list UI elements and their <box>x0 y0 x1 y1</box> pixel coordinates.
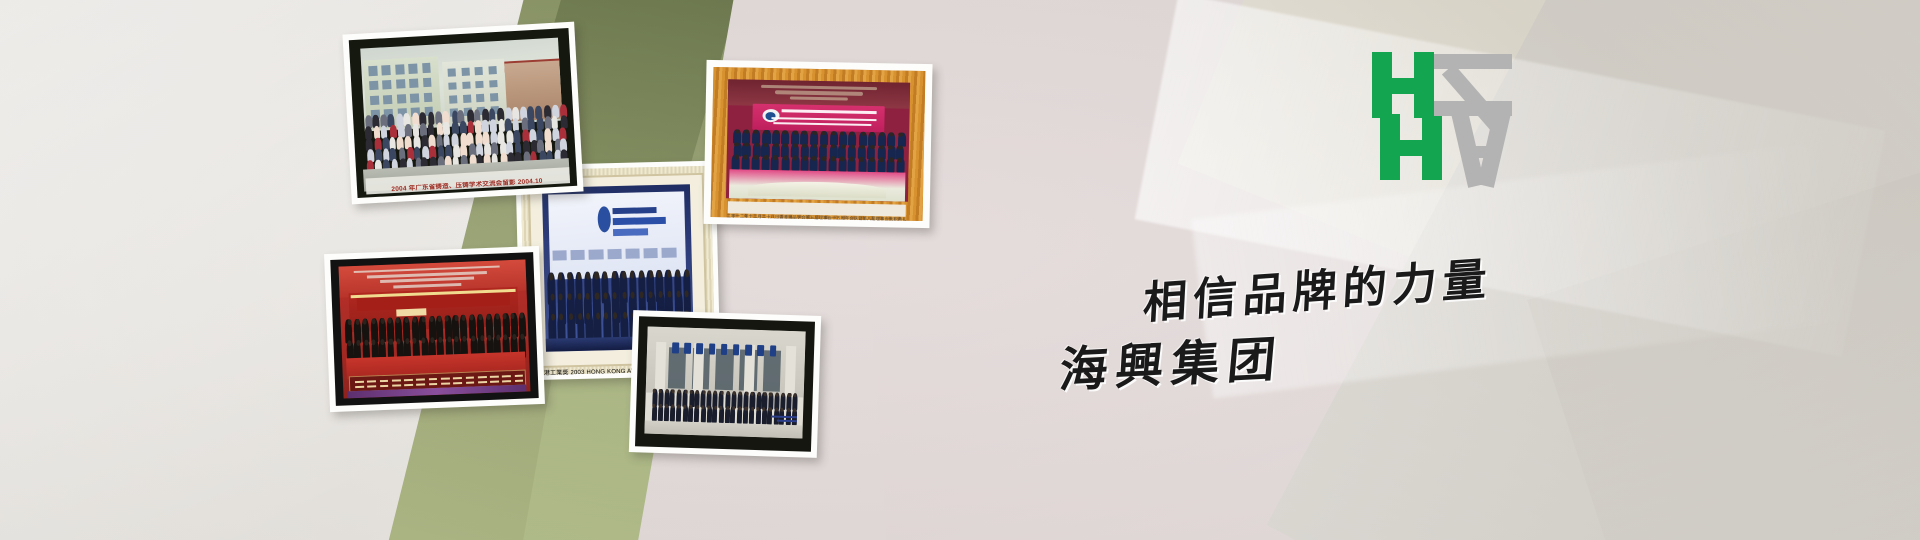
person-head <box>792 156 797 160</box>
person-head <box>831 131 836 135</box>
person-head <box>480 335 484 341</box>
person-head <box>657 270 661 277</box>
person-head <box>667 270 671 277</box>
person-head <box>684 390 687 394</box>
building-window <box>463 95 471 103</box>
building-facade <box>645 327 805 398</box>
attendee-name <box>355 381 364 383</box>
person-head <box>734 155 739 159</box>
building-window <box>369 81 378 91</box>
award-category-label <box>644 248 659 258</box>
person-head <box>622 292 626 299</box>
person-head <box>595 292 599 299</box>
person-head <box>787 408 790 412</box>
building-window <box>489 80 497 88</box>
attendee-name <box>502 375 511 377</box>
person-head <box>667 291 671 298</box>
person-head <box>743 155 748 159</box>
attendee-name <box>380 385 389 387</box>
person-head <box>745 407 748 411</box>
entrance-column <box>655 342 666 394</box>
photo-image-association <box>726 79 911 201</box>
person-head <box>757 392 760 396</box>
person-head <box>870 157 875 161</box>
person-head <box>356 340 360 346</box>
building-window <box>383 95 392 105</box>
background-layer <box>0 0 1920 540</box>
attendee-name <box>490 381 499 383</box>
person-head <box>520 333 524 339</box>
person-head <box>769 407 772 411</box>
attendee-name <box>441 377 450 379</box>
person-head <box>363 318 367 324</box>
person-head <box>764 155 769 159</box>
sign-character <box>696 343 703 354</box>
person-head <box>478 314 482 320</box>
person-head <box>793 143 798 147</box>
banquet-attendees <box>730 129 906 175</box>
ceiling-light <box>790 97 848 101</box>
person-head <box>684 290 688 297</box>
stage-banner <box>753 103 885 132</box>
attendee-name <box>379 380 388 382</box>
person-head <box>822 156 827 160</box>
person-head <box>803 156 808 160</box>
person-head <box>783 143 788 147</box>
building-window <box>422 63 431 73</box>
person-head <box>714 406 717 410</box>
person-head <box>405 317 409 323</box>
person-head <box>754 155 759 159</box>
person-head <box>802 143 807 147</box>
person-head <box>822 131 827 135</box>
photo-inner <box>330 252 538 406</box>
ceiling-light <box>775 91 863 96</box>
person-head <box>734 142 739 146</box>
attendee-name <box>441 383 450 385</box>
person-head <box>364 339 368 345</box>
banner-text-line-1 <box>782 110 877 114</box>
person-head <box>577 293 581 300</box>
attendee-name <box>416 378 425 380</box>
building-window <box>370 95 379 105</box>
sign-character <box>757 345 764 356</box>
person-head <box>744 142 749 146</box>
person-head <box>622 271 626 278</box>
calligraphy-slogan: 相信品牌的力量 海興集团 <box>1060 255 1540 445</box>
person-head <box>726 406 729 410</box>
person-head <box>371 318 375 324</box>
person-head <box>802 130 807 134</box>
attendee-name <box>429 383 438 385</box>
person-head <box>395 317 399 323</box>
person-head <box>783 156 788 160</box>
person-head <box>496 334 500 340</box>
person-head <box>860 144 865 148</box>
building-window <box>476 94 484 102</box>
person-head <box>447 336 451 342</box>
building-window <box>461 68 469 76</box>
building-window <box>395 65 404 75</box>
brand-banner: 香港工業獎 2003 HONG KONG AWARDS FOR INDUSTRY… <box>0 0 1920 540</box>
person-head <box>380 339 384 345</box>
person-head <box>812 143 817 147</box>
person-head <box>831 157 836 161</box>
building-window <box>423 92 432 102</box>
building-window <box>462 81 470 89</box>
award-category-label <box>662 247 677 257</box>
person-head <box>783 130 788 134</box>
person-head <box>603 272 607 279</box>
photo-inner <box>635 316 815 451</box>
attendee-name <box>367 380 376 382</box>
building-window <box>423 78 432 88</box>
person-head <box>486 314 490 320</box>
photo-image-entrance <box>644 327 806 439</box>
person-head <box>840 157 845 161</box>
person-head <box>549 273 553 280</box>
building-window <box>488 66 496 74</box>
person-head <box>812 131 817 135</box>
logo-letter-a-grey <box>1438 108 1524 184</box>
person-head <box>665 404 668 408</box>
person-head <box>380 318 384 324</box>
sign-character <box>721 344 728 355</box>
person-head <box>898 145 903 149</box>
person-head <box>822 144 827 148</box>
sign-character <box>672 343 679 354</box>
slogan-line-2: 海興集团 <box>1057 319 1287 401</box>
photo-card-building-entrance[interactable] <box>629 310 821 458</box>
person-head <box>387 318 391 324</box>
person-head <box>355 319 359 325</box>
person-head <box>421 316 425 322</box>
attendee-name <box>392 379 401 381</box>
attendee-name <box>453 377 462 379</box>
attendee-name <box>515 374 524 376</box>
person-head <box>744 129 749 133</box>
attendee-name <box>404 379 413 381</box>
person-head <box>495 313 499 319</box>
banner-text-line-3 <box>774 122 871 126</box>
attendee-name <box>478 376 487 378</box>
date-stamp-line <box>771 415 797 418</box>
person-head <box>604 313 608 320</box>
attendee-name <box>355 386 364 388</box>
person-head <box>888 145 893 149</box>
building-window <box>476 81 484 89</box>
award-category-label <box>571 250 586 260</box>
awards-title-line-1 <box>612 207 657 215</box>
person-head <box>775 408 778 412</box>
building-window <box>381 65 390 75</box>
logo-letter-h-green-bottom <box>1380 114 1442 180</box>
person-head <box>612 271 616 278</box>
slogan-line-1: 相信品牌的力量 <box>1142 243 1495 332</box>
building-window <box>449 95 457 103</box>
ceiling-beam <box>394 283 461 288</box>
building-window <box>409 79 418 89</box>
person-head <box>774 130 779 134</box>
person-head <box>898 132 903 136</box>
sign-character <box>684 343 691 354</box>
person-head <box>788 393 791 397</box>
attendee-name <box>429 378 438 380</box>
attendee-name <box>404 384 413 386</box>
person-head <box>659 404 662 408</box>
person-head <box>405 338 409 344</box>
sign-character <box>733 345 740 356</box>
person-head <box>347 340 351 346</box>
person-head <box>594 272 598 279</box>
person-head <box>558 293 562 300</box>
attendee-name <box>490 375 499 377</box>
building-window <box>448 69 456 77</box>
sign-character <box>745 345 752 356</box>
award-category-label <box>607 249 622 259</box>
attendee-name <box>515 380 524 382</box>
building-window <box>410 93 419 103</box>
sign-character <box>709 344 716 355</box>
attendee-name <box>392 385 401 387</box>
photo-card-2004-guangdong[interactable]: 2004 年广东省铸造、压铸学术交流会留影 2004.10 <box>342 22 583 205</box>
photo-inner <box>349 28 577 198</box>
photo-card-hk-association-gold[interactable]: 二零一二年十二月二十八日香港潮品学会第五届理事会十五周年会庆暨第八届理事会就职典… <box>703 60 932 228</box>
person-head <box>859 157 864 161</box>
photo-card-2014-red-backdrop[interactable] <box>324 246 545 412</box>
person-head <box>577 272 581 279</box>
banner-text-line-2 <box>771 117 876 121</box>
person-head <box>841 144 846 148</box>
person-head <box>774 143 779 147</box>
sign-character <box>769 346 776 357</box>
person-head <box>396 338 400 344</box>
awards-title-line-2 <box>612 216 666 225</box>
person-head <box>880 145 885 149</box>
person-head <box>745 392 748 396</box>
person-head <box>763 143 768 147</box>
logo-letter-h-green-top <box>1372 52 1434 118</box>
building-window <box>490 93 498 101</box>
attendee-name <box>417 384 426 386</box>
building-window <box>396 94 405 104</box>
hza-logo-letters <box>1372 52 1602 182</box>
person-head <box>558 273 562 280</box>
award-category-label <box>589 249 604 259</box>
person-head <box>751 407 754 411</box>
person-head <box>773 155 778 159</box>
person-head <box>769 393 772 397</box>
person-head <box>429 316 433 322</box>
hza-logo[interactable]: 海興集團 <box>1372 52 1602 227</box>
person-head <box>461 315 465 321</box>
photo-date-stamp <box>768 415 797 424</box>
person-head <box>389 338 393 344</box>
person-head <box>412 317 416 323</box>
building-window <box>382 80 391 90</box>
award-category-label <box>625 248 640 258</box>
person-head <box>793 130 798 134</box>
person-head <box>849 157 854 161</box>
person-head <box>503 334 507 340</box>
person-head <box>850 131 855 135</box>
entrance-column <box>785 346 796 398</box>
person-head <box>630 271 634 278</box>
person-head <box>879 158 884 162</box>
attendee-name <box>465 376 474 378</box>
person-head <box>732 406 735 410</box>
person-head <box>897 158 902 162</box>
building-window <box>475 67 483 75</box>
attendee-name <box>367 386 376 388</box>
person-head <box>586 272 590 279</box>
person-head <box>696 405 699 409</box>
attendee-name <box>502 380 511 382</box>
person-head <box>421 337 425 343</box>
building-window <box>396 79 405 89</box>
person-head <box>812 156 817 160</box>
person-head <box>454 315 458 321</box>
person-head <box>430 337 434 343</box>
person-head <box>870 145 875 149</box>
person-head <box>851 144 856 148</box>
building-window <box>449 82 457 90</box>
building-window <box>368 66 377 76</box>
banner-year-text <box>396 308 426 316</box>
person-head <box>347 319 351 325</box>
person-head <box>438 337 442 343</box>
award-category-label <box>552 250 567 260</box>
photo-inner <box>711 67 926 221</box>
attendee-name <box>478 381 487 383</box>
person-head <box>831 144 836 148</box>
background-vignette <box>0 0 1920 540</box>
attendee-name <box>466 382 475 384</box>
person-head <box>753 130 758 134</box>
awards-title-line-3 <box>613 228 649 235</box>
person-head <box>870 132 875 136</box>
ceiling-light <box>761 85 878 90</box>
attendee-name <box>453 382 462 384</box>
person-head <box>735 129 740 133</box>
person-head <box>889 158 894 162</box>
date-stamp-line <box>777 420 797 423</box>
photo-image-2014 <box>339 260 531 398</box>
person-head <box>471 335 475 341</box>
building-window <box>408 64 417 74</box>
